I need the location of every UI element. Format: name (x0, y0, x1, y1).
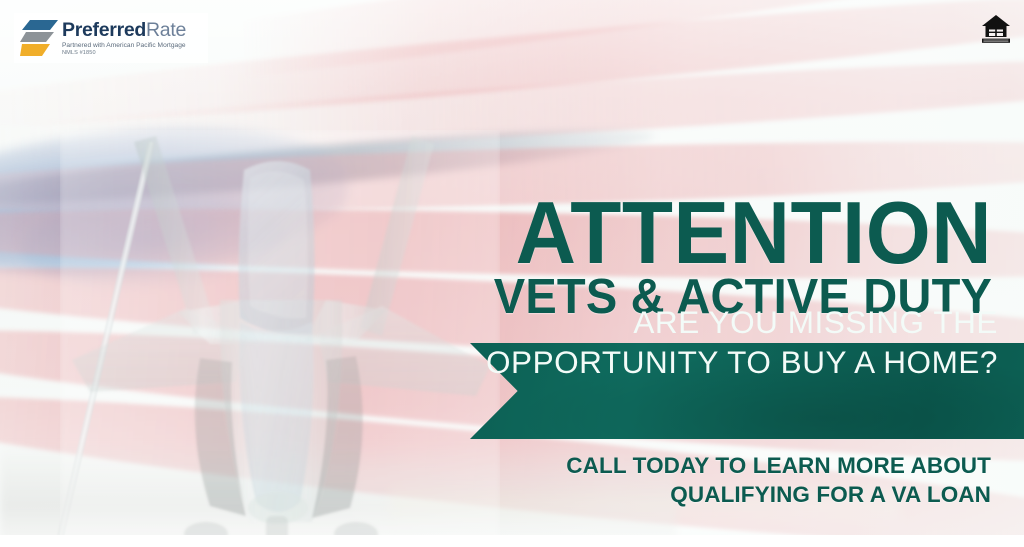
ribbon-line-2: OPPORTUNITY TO BUY A HOME? (486, 343, 998, 383)
cta-line-2: QUALIFYING FOR A VA LOAN (566, 481, 991, 510)
marketing-banner: PreferredRate Partnered with American Pa… (0, 0, 1024, 547)
ribbon-line-1: ARE YOU MISSING THE (486, 303, 998, 343)
call-to-action-block: CALL TODAY TO LEARN MORE ABOUT QUALIFYIN… (566, 452, 991, 510)
cta-line-1: CALL TODAY TO LEARN MORE ABOUT (566, 452, 991, 481)
equal-housing-opportunity-icon (980, 10, 1012, 44)
preferred-rate-logo[interactable]: PreferredRate Partnered with American Pa… (14, 13, 208, 63)
logo-name-light: Rate (146, 19, 186, 41)
logo-tagline: Partnered with American Pacific Mortgage (62, 43, 186, 50)
logo-text-block: PreferredRate Partnered with American Pa… (62, 20, 186, 57)
fighter-jet-icon (60, 130, 500, 547)
bottom-white-band (0, 535, 1024, 547)
page-title: ATTENTION (499, 196, 992, 270)
stacked-bars-logo-icon (20, 17, 60, 59)
logo-name-bold: Preferred (62, 19, 146, 41)
logo-nmls: NMLS #1850 (62, 51, 186, 57)
ribbon-text-block: ARE YOU MISSING THE OPPORTUNITY TO BUY A… (486, 295, 998, 391)
logo-wordmark: PreferredRate (62, 21, 186, 41)
